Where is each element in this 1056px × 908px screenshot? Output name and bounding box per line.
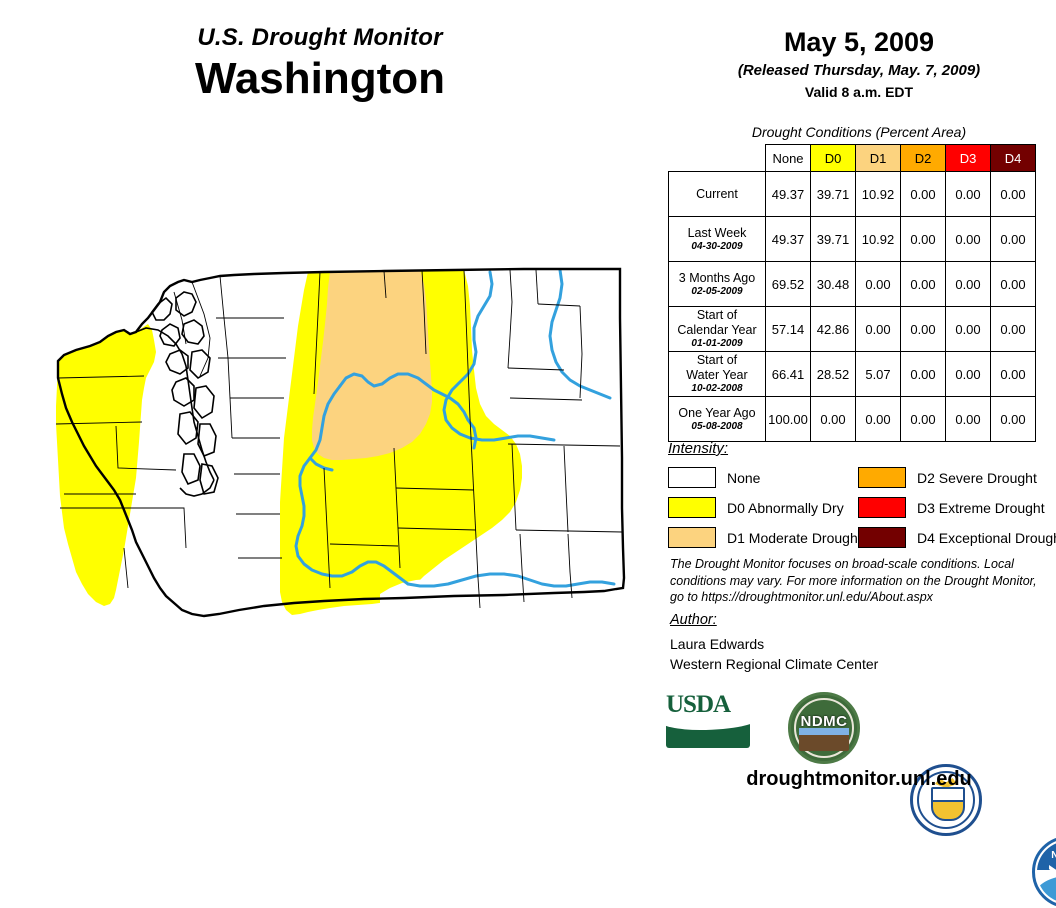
author-title: Author: (670, 612, 717, 628)
row-date: 05-08-2008 (669, 421, 765, 433)
drought-monitor-page: U.S. Drought Monitor Washington May 5, 2… (0, 0, 1056, 816)
legend-item-none: None (668, 465, 858, 490)
cell-d2: 0.00 (901, 172, 946, 217)
row-date: 04-30-2009 (669, 241, 765, 253)
legend-swatch-none (668, 467, 716, 488)
column-header-none: None (766, 145, 811, 172)
cell-d1: 5.07 (856, 352, 901, 397)
author-name: Laura Edwards (670, 634, 878, 654)
row-label: 3 Months Ago02-05-2009 (669, 262, 766, 307)
legend-label-d0: D0 Abnormally Dry (727, 500, 844, 516)
row-date: 01-01-2009 (669, 338, 765, 350)
cell-none: 57.14 (766, 307, 811, 352)
cell-d0: 39.71 (811, 172, 856, 217)
cell-d1: 0.00 (856, 397, 901, 442)
row-label: Last Week04-30-2009 (669, 217, 766, 262)
row-date: 02-05-2009 (669, 286, 765, 298)
row-date: 10-02-2008 (669, 383, 765, 395)
ndmc-logo: NDMC (788, 692, 860, 764)
cell-d2: 0.00 (901, 262, 946, 307)
legend-swatch-d0 (668, 497, 716, 518)
cell-d3: 0.00 (946, 217, 991, 262)
row-label: Start ofCalendar Year01-01-2009 (669, 307, 766, 352)
disclaimer-note: The Drought Monitor focuses on broad-sca… (670, 556, 1046, 606)
valid-line: Valid 8 a.m. EDT (666, 84, 1052, 100)
row-label: Current (669, 172, 766, 217)
intensity-legend: Intensity: None D0 Abnormally Dry D1 Mod… (668, 440, 1048, 555)
author-affiliation: Western Regional Climate Center (670, 654, 878, 674)
column-header-d2: D2 (901, 145, 946, 172)
cell-none: 66.41 (766, 352, 811, 397)
row-label: Start ofWater Year10-02-2008 (669, 352, 766, 397)
cell-d2: 0.00 (901, 397, 946, 442)
drought-conditions-table: None D0 D1 D2 D3 D4 Current49.3739.7110.… (668, 144, 1036, 442)
legend-swatch-d1 (668, 527, 716, 548)
cell-d3: 0.00 (946, 262, 991, 307)
legend-title: Intensity: (668, 440, 1048, 457)
cell-d3: 0.00 (946, 307, 991, 352)
map-title-block: U.S. Drought Monitor Washington (0, 26, 640, 102)
cell-d0: 28.52 (811, 352, 856, 397)
d1-region-core (312, 270, 432, 460)
cell-none: 49.37 (766, 172, 811, 217)
cell-d0: 39.71 (811, 217, 856, 262)
legend-label-d1: D1 Moderate Drought (727, 530, 862, 546)
cell-d1: 10.92 (856, 217, 901, 262)
noaa-logo: NOAA (1032, 836, 1056, 908)
cell-d2: 0.00 (901, 307, 946, 352)
table-row: Start ofWater Year10-02-200866.4128.525.… (669, 352, 1036, 397)
cell-d0: 42.86 (811, 307, 856, 352)
cell-d4: 0.00 (991, 262, 1036, 307)
table-row: Start ofCalendar Year01-01-200957.1442.8… (669, 307, 1036, 352)
usda-logo: USDA (666, 692, 750, 754)
legend-label-d3: D3 Extreme Drought (917, 500, 1045, 516)
released-line: (Released Thursday, May. 7, 2009) (666, 62, 1052, 79)
column-header-d3: D3 (946, 145, 991, 172)
legend-swatch-d4 (858, 527, 906, 548)
legend-column-left: None D0 Abnormally Dry D1 Moderate Droug… (668, 465, 858, 555)
washington-drought-map (24, 258, 648, 658)
noaa-logo-text: NOAA (1035, 850, 1056, 861)
table-row: Last Week04-30-200949.3739.7110.920.000.… (669, 217, 1036, 262)
cell-d4: 0.00 (991, 352, 1036, 397)
cell-d1: 10.92 (856, 172, 901, 217)
legend-label-d4: D4 Exceptional Drought (917, 530, 1056, 546)
release-header: May 5, 2009 (Released Thursday, May. 7, … (666, 28, 1052, 100)
legend-item-d4: D4 Exceptional Drought (858, 525, 1048, 550)
cell-d4: 0.00 (991, 397, 1036, 442)
cell-d0: 0.00 (811, 397, 856, 442)
noaa-sea-shape (1037, 876, 1056, 903)
table-row: Current49.3739.7110.920.000.000.00 (669, 172, 1036, 217)
legend-item-d0: D0 Abnormally Dry (668, 495, 858, 520)
map-base-layer (56, 269, 624, 618)
cell-d0: 30.48 (811, 262, 856, 307)
cell-d1: 0.00 (856, 307, 901, 352)
table-row: 3 Months Ago02-05-200969.5230.480.000.00… (669, 262, 1036, 307)
cell-d4: 0.00 (991, 307, 1036, 352)
cell-none: 69.52 (766, 262, 811, 307)
cell-d2: 0.00 (901, 217, 946, 262)
row-label: One Year Ago05-08-2008 (669, 397, 766, 442)
table-body: Current49.3739.7110.920.000.000.00Last W… (669, 172, 1036, 442)
table-header-row: None D0 D1 D2 D3 D4 (669, 145, 1036, 172)
table-caption: Drought Conditions (Percent Area) (666, 124, 1052, 140)
author-block: Laura Edwards Western Regional Climate C… (670, 634, 878, 675)
legend-label-none: None (727, 470, 760, 486)
legend-swatch-d2 (858, 467, 906, 488)
cell-none: 100.00 (766, 397, 811, 442)
ndmc-mountain-shape (799, 733, 849, 751)
logo-row: USDA NDMC NOAA (666, 692, 1052, 764)
column-header-d1: D1 (856, 145, 901, 172)
cell-d4: 0.00 (991, 172, 1036, 217)
cell-d1: 0.00 (856, 262, 901, 307)
legend-item-d2: D2 Severe Drought (858, 465, 1048, 490)
usda-field-shape (666, 718, 750, 748)
table-row: One Year Ago05-08-2008100.000.000.000.00… (669, 397, 1036, 442)
ndmc-logo-text: NDMC (791, 713, 857, 730)
legend-item-d3: D3 Extreme Drought (858, 495, 1048, 520)
header-spacer (669, 145, 766, 172)
legend-column-right: D2 Severe Drought D3 Extreme Drought D4 … (858, 465, 1048, 555)
website-url: droughtmonitor.unl.edu (666, 768, 1052, 791)
usda-logo-text: USDA (666, 692, 750, 717)
state-title: Washington (0, 56, 640, 102)
cell-d4: 0.00 (991, 217, 1036, 262)
legend-item-d1: D1 Moderate Drought (668, 525, 858, 550)
cell-d3: 0.00 (946, 172, 991, 217)
legend-swatch-d3 (858, 497, 906, 518)
cell-d3: 0.00 (946, 352, 991, 397)
column-header-d0: D0 (811, 145, 856, 172)
cell-d2: 0.00 (901, 352, 946, 397)
release-date: May 5, 2009 (666, 28, 1052, 58)
legend-label-d2: D2 Severe Drought (917, 470, 1037, 486)
cell-none: 49.37 (766, 217, 811, 262)
cell-d3: 0.00 (946, 397, 991, 442)
program-title: U.S. Drought Monitor (0, 26, 640, 50)
column-header-d4: D4 (991, 145, 1036, 172)
